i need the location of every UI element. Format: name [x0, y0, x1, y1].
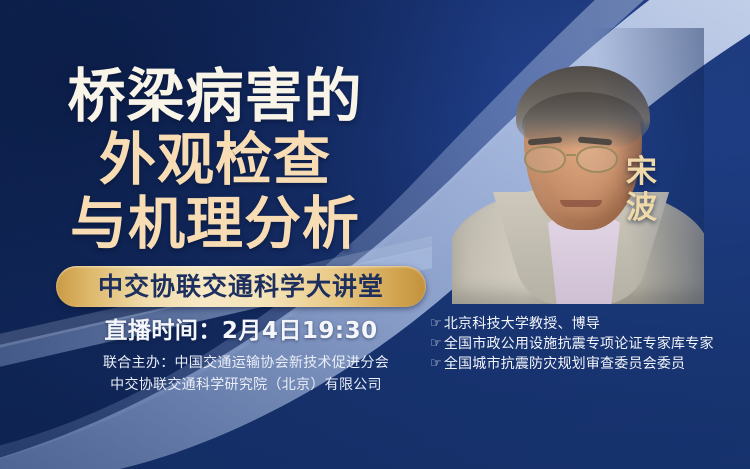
pointing-hand-icon: ☞	[430, 354, 442, 374]
credential-item: ☞ 北京科技大学教授、博导	[430, 314, 714, 334]
broadcast-time: 直播时间：2月4日19:30	[56, 311, 426, 345]
organizer-line-1: 联合主办：中国交通运输协会新技术促进分会	[56, 352, 436, 374]
credential-item: ☞ 全国城市抗震防灾规划审查委员会委员	[430, 354, 714, 374]
series-banner-label: 中交协联交通科学大讲堂	[98, 274, 384, 299]
credential-text: 全国市政公用设施抗震专项论证专家库专家	[444, 334, 714, 354]
pointing-hand-icon: ☞	[430, 334, 442, 354]
organizer-line-2: 中交协联交通科学研究院（北京）有限公司	[56, 374, 436, 396]
speaker-name-char-2: 波	[626, 190, 657, 226]
webinar-poster: 桥梁病害的 外观检查 与机理分析 中交协联交通科学大讲堂 直播时间：2月4日19…	[0, 0, 750, 469]
photo-mouth	[560, 200, 602, 207]
photo-eyeglass-bridge	[566, 154, 576, 156]
series-banner: 中交协联交通科学大讲堂	[56, 266, 426, 307]
credential-item: ☞ 全国市政公用设施抗震专项论证专家库专家	[430, 334, 714, 354]
title-line-1: 桥梁病害的	[0, 64, 430, 128]
title-line-3: 与机理分析	[0, 192, 430, 256]
credential-text: 全国城市抗震防灾规划审查委员会委员	[444, 354, 685, 374]
credential-text: 北京科技大学教授、博导	[444, 314, 600, 334]
speaker-name: 宋 波	[626, 154, 657, 226]
pointing-hand-icon: ☞	[430, 314, 442, 334]
organizers: 联合主办：中国交通运输协会新技术促进分会 中交协联交通科学研究院（北京）有限公司	[56, 352, 436, 396]
speaker-photo	[452, 28, 704, 304]
title-line-2: 外观检查	[0, 128, 430, 192]
speaker-name-char-1: 宋	[626, 154, 657, 190]
photo-eyeglass-right	[576, 146, 618, 173]
poster-title: 桥梁病害的 外观检查 与机理分析	[0, 64, 430, 256]
photo-eyeglass-left	[524, 146, 566, 173]
speaker-credentials: ☞ 北京科技大学教授、博导 ☞ 全国市政公用设施抗震专项论证专家库专家 ☞ 全国…	[430, 314, 714, 374]
